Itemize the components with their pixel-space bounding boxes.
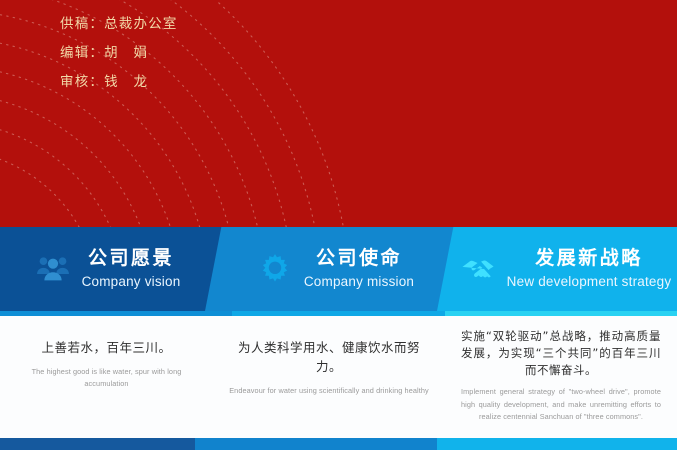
handshake-icon: [461, 252, 495, 286]
footer-segment-3: [437, 438, 677, 450]
banner-panel-new-development-strategy[interactable]: 发展新战略 New development strategy: [437, 227, 677, 311]
people-group-icon: [36, 252, 70, 286]
credit-line-editor: 编辑：胡 娟: [60, 39, 480, 68]
credit-line-reviewer: 审核：钱 龙: [60, 68, 480, 97]
hero-red-section: 供稿：总裁办公室 编辑：胡 娟 审核：钱 龙: [0, 0, 677, 227]
panel-title-en-strategy: New development strategy: [507, 275, 672, 289]
panel-title-en-mission: Company mission: [304, 275, 414, 289]
footer-segment-2: [195, 438, 437, 450]
blue-banner: 公司愿景 Company vision 公司使命 Company mission: [0, 227, 677, 311]
banner-panel-company-vision[interactable]: 公司愿景 Company vision: [0, 227, 222, 311]
credit-line-contributor: 供稿：总裁办公室: [60, 10, 480, 39]
banner-panel-company-mission[interactable]: 公司使命 Company mission: [205, 227, 455, 311]
gear-icon: [258, 252, 292, 286]
content-columns: 上善若水，百年三川。 The highest good is like wate…: [0, 316, 677, 438]
content-cn-strategy: 实施“双轮驱动”总战略，推动高质量发展，为实现“三个共同”的百年三川而不懈奋斗。: [461, 328, 661, 379]
content-en-strategy: Implement general strategy of "two-wheel…: [461, 386, 661, 424]
footer-segment-1: [0, 438, 195, 450]
content-en-vision: The highest good is like water, spur wit…: [16, 366, 197, 390]
content-column-strategy: 实施“双轮驱动”总战略，推动高质量发展，为实现“三个共同”的百年三川而不懈奋斗。…: [445, 316, 677, 438]
panel-title-cn-strategy: 发展新战略: [535, 249, 643, 268]
content-cn-mission: 为人类科学用水、健康饮水而努力。: [229, 338, 429, 376]
content-column-mission: 为人类科学用水、健康饮水而努力。 Endeavour for water usi…: [213, 316, 445, 438]
footer-color-bar: [0, 438, 677, 450]
panel-title-en-vision: Company vision: [82, 275, 181, 289]
panel-title-cn-vision: 公司愿景: [88, 249, 174, 268]
content-cn-vision: 上善若水，百年三川。: [16, 338, 197, 357]
content-en-mission: Endeavour for water using scientifically…: [229, 385, 429, 397]
credits-block: 供稿：总裁办公室 编辑：胡 娟 审核：钱 龙: [60, 10, 480, 97]
content-column-vision: 上善若水，百年三川。 The highest good is like wate…: [0, 316, 213, 438]
slide-canvas: 供稿：总裁办公室 编辑：胡 娟 审核：钱 龙: [0, 0, 677, 450]
panel-title-cn-mission: 公司使命: [316, 249, 402, 268]
